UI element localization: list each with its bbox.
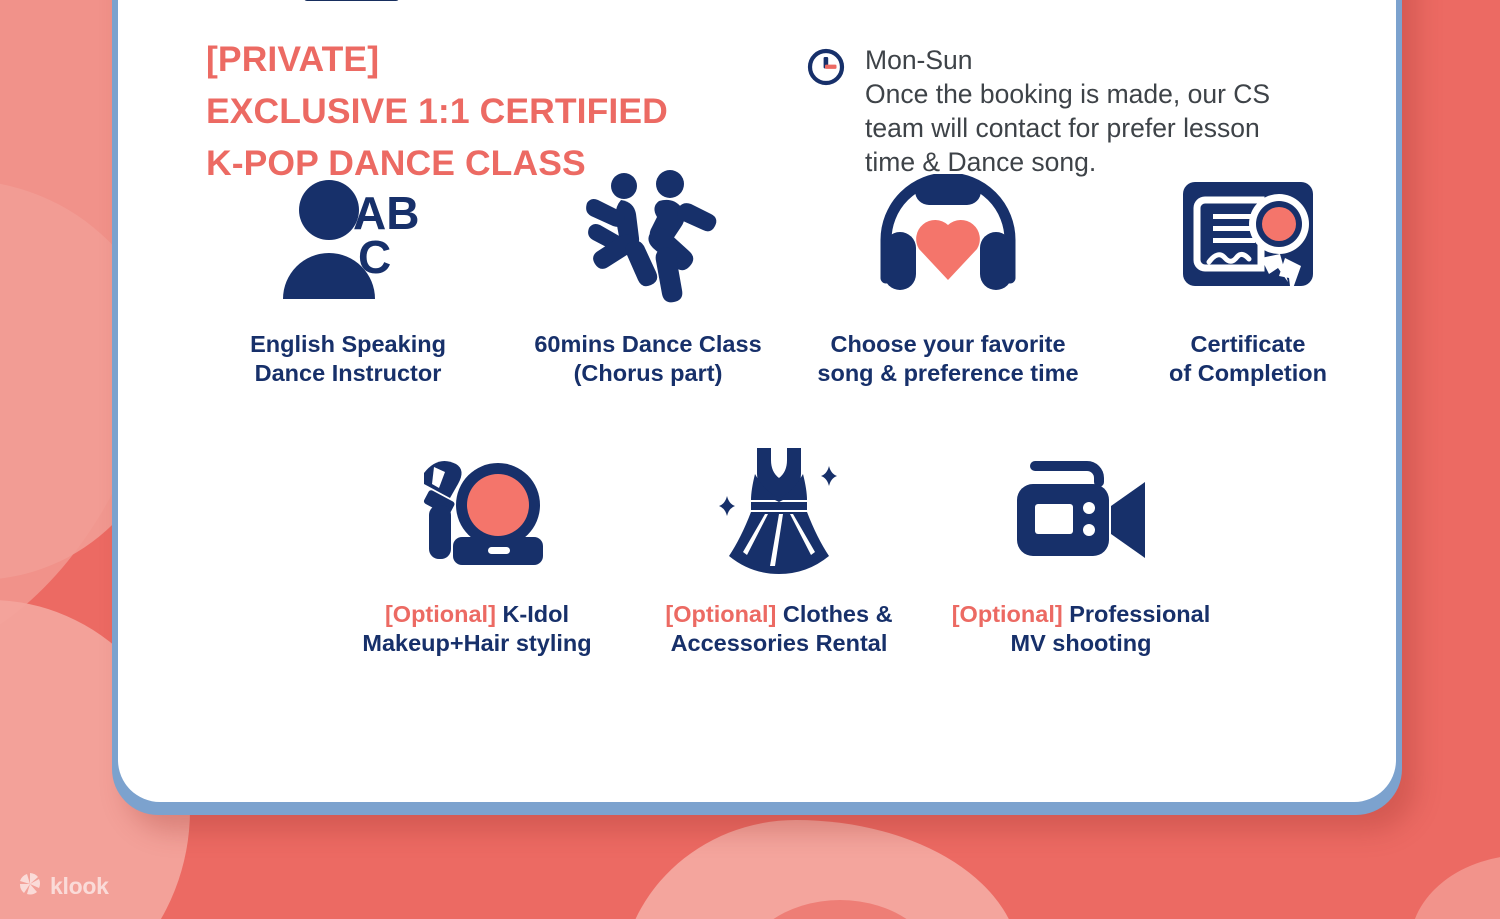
feature-dance-class-duration: 60mins Dance Class (Chorus part) bbox=[498, 164, 798, 388]
primary-feature-row: AB C English Speaking Dance Instructor bbox=[118, 164, 1396, 388]
feature-optional-clothes: [Optional] Clothes & Accessories Rental bbox=[628, 434, 930, 658]
person-abc-icon: AB C bbox=[273, 164, 423, 314]
optional-badge: [Optional] bbox=[385, 601, 496, 627]
feature-label: English Speaking Dance Instructor bbox=[250, 330, 446, 388]
certificate-icon bbox=[1179, 164, 1317, 314]
klook-pinwheel-icon bbox=[18, 872, 42, 901]
optional-badge: [Optional] bbox=[952, 601, 1063, 627]
feature-certificate: Certificate of Completion bbox=[1098, 164, 1396, 388]
feature-optional-makeup: [Optional] K-Idol Makeup+Hair styling bbox=[326, 434, 628, 658]
feature-english-instructor: AB C English Speaking Dance Instructor bbox=[198, 164, 498, 388]
clock-icon bbox=[806, 47, 846, 180]
background-blob-right-bottom bbox=[1410, 855, 1500, 919]
background-blob-bottom-inner bbox=[740, 900, 940, 919]
feature-label: [Optional] Professional MV shooting bbox=[952, 600, 1211, 658]
camcorder-icon bbox=[1011, 434, 1151, 584]
klook-wordmark: klook bbox=[50, 873, 109, 900]
feature-optional-mv-shooting: [Optional] Professional MV shooting bbox=[930, 434, 1232, 658]
decorative-rule bbox=[304, 0, 399, 1]
feature-label: 60mins Dance Class (Chorus part) bbox=[534, 330, 761, 388]
svg-text:C: C bbox=[358, 231, 391, 283]
info-card: [PRIVATE] EXCLUSIVE 1:1 CERTIFIED K-POP … bbox=[118, 0, 1396, 802]
two-dancers-icon bbox=[573, 164, 723, 314]
dress-sparkle-icon bbox=[709, 434, 849, 584]
feature-choose-song: Choose your favorite song & preference t… bbox=[798, 164, 1098, 388]
background-blob-bottom-ring bbox=[620, 820, 1020, 919]
optional-feature-row: [Optional] K-Idol Makeup+Hair styling bbox=[118, 434, 1396, 658]
feature-label: Certificate of Completion bbox=[1169, 330, 1327, 388]
feature-label: [Optional] Clothes & Accessories Rental bbox=[665, 600, 892, 658]
schedule-text: Mon-Sun Once the booking is made, our CS… bbox=[865, 44, 1270, 180]
optional-badge: [Optional] bbox=[665, 601, 776, 627]
feature-label: Choose your favorite song & preference t… bbox=[817, 330, 1078, 388]
feature-label: [Optional] K-Idol Makeup+Hair styling bbox=[362, 600, 591, 658]
klook-watermark: klook bbox=[18, 872, 109, 901]
makeup-compact-brush-icon bbox=[406, 434, 548, 584]
headphones-heart-icon bbox=[872, 164, 1024, 314]
schedule-block: Mon-Sun Once the booking is made, our CS… bbox=[806, 34, 1270, 180]
